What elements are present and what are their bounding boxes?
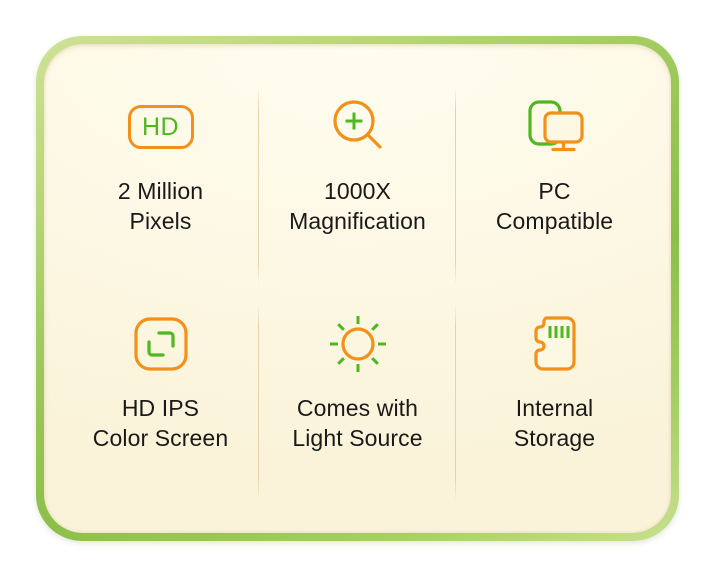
magnifier-plus-icon <box>327 96 389 158</box>
icon-slot <box>327 88 389 166</box>
feature-label-line1: 2 Million <box>118 178 203 204</box>
hd-badge-icon: HD <box>128 105 194 149</box>
monitor-devices-icon <box>522 96 588 158</box>
icon-slot <box>527 305 583 383</box>
feature-item-pixels[interactable]: HD 2 Million Pixels <box>62 74 259 291</box>
feature-label-line2: Storage <box>514 423 595 453</box>
feature-item-ips-screen[interactable]: HD IPS Color Screen <box>62 291 259 508</box>
icon-slot <box>132 305 190 383</box>
feature-label-magnification: 1000X Magnification <box>289 176 426 236</box>
feature-label-light-source: Comes with Light Source <box>292 393 422 453</box>
hd-badge-text: HD <box>142 115 179 140</box>
feature-label-ips-screen: HD IPS Color Screen <box>93 393 228 453</box>
icon-slot: HD <box>128 88 194 166</box>
feature-label-line2: Magnification <box>289 206 426 236</box>
feature-label-line2: Color Screen <box>93 423 228 453</box>
sd-card-icon <box>527 314 583 374</box>
card-surface: HD 2 Million Pixels <box>44 44 671 533</box>
screenshot-stage: HD 2 Million Pixels <box>0 0 715 585</box>
feature-item-magnification[interactable]: 1000X Magnification <box>259 74 456 291</box>
feature-label-line1: HD IPS <box>122 395 199 421</box>
feature-label-line1: 1000X <box>324 178 391 204</box>
feature-grid: HD 2 Million Pixels <box>44 44 671 533</box>
feature-label-line2: Pixels <box>118 206 203 236</box>
screen-frame-icon <box>132 315 190 373</box>
feature-label-line1: Internal <box>516 395 594 421</box>
feature-label-line2: Light Source <box>292 423 422 453</box>
feature-label-pixels: 2 Million Pixels <box>118 176 203 236</box>
feature-label-internal-storage: Internal Storage <box>514 393 595 453</box>
icon-slot <box>327 305 389 383</box>
feature-label-pc-compatible: PC Compatible <box>496 176 613 236</box>
feature-label-line1: PC <box>538 178 570 204</box>
feature-item-internal-storage[interactable]: Internal Storage <box>456 291 653 508</box>
feature-label-line1: Comes with <box>297 395 418 421</box>
icon-slot <box>522 88 588 166</box>
sun-icon <box>327 313 389 375</box>
feature-item-pc-compatible[interactable]: PC Compatible <box>456 74 653 291</box>
feature-label-line2: Compatible <box>496 206 613 236</box>
device-frame: HD 2 Million Pixels <box>36 36 679 541</box>
feature-item-light-source[interactable]: Comes with Light Source <box>259 291 456 508</box>
